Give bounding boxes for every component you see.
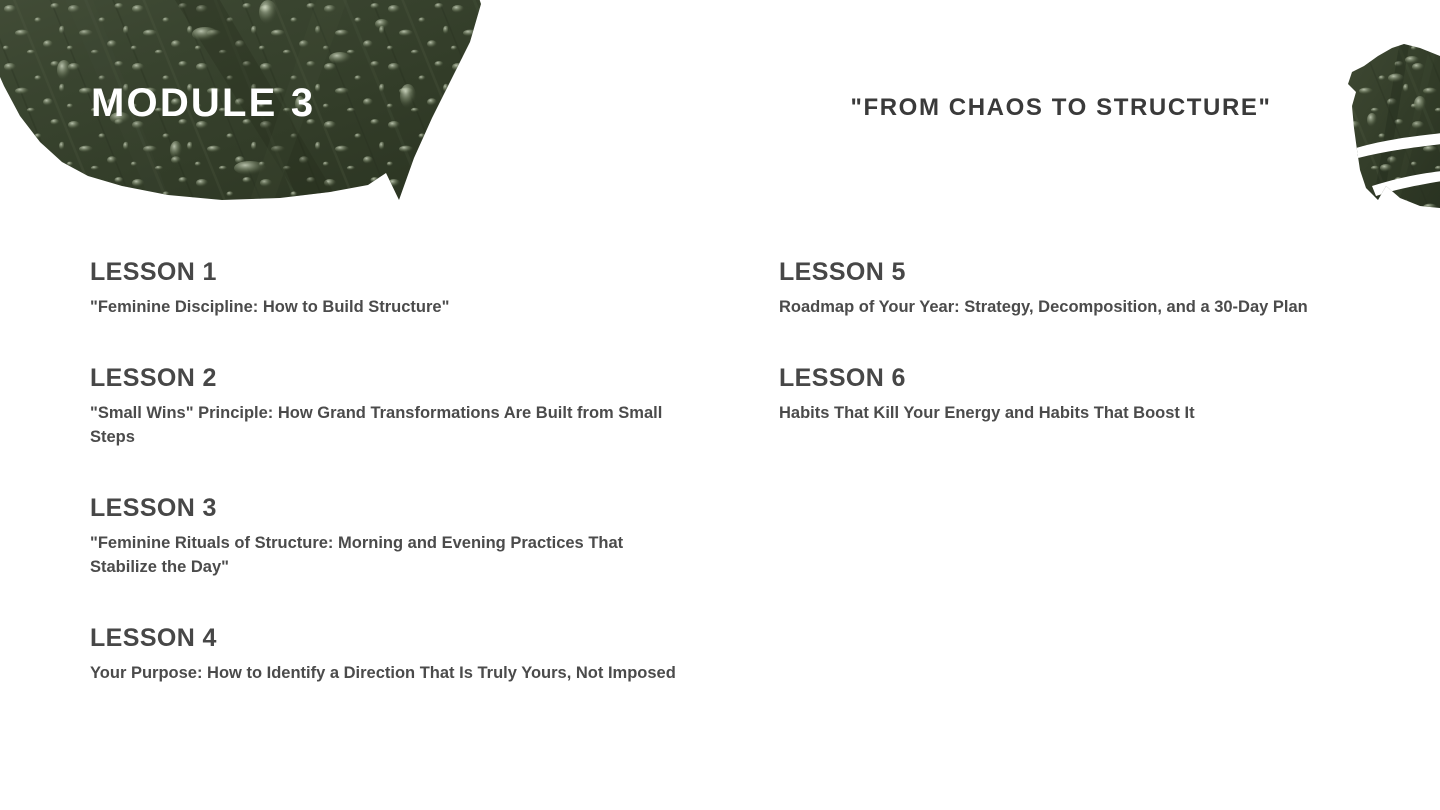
lesson-label: LESSON 3	[90, 494, 690, 522]
lesson-item[interactable]: LESSON 3 "Feminine Rituals of Structure:…	[90, 494, 690, 579]
slide-heading-text: "FROM CHAOS TO STRUCTURE"	[806, 92, 1316, 124]
lesson-description: Your Purpose: How to Identify a Directio…	[90, 661, 685, 685]
lesson-label: LESSON 4	[90, 624, 690, 652]
lesson-description: "Feminine Rituals of Structure: Morning …	[90, 531, 685, 579]
lesson-label: LESSON 6	[779, 364, 1379, 392]
module-badge: MODULE 3	[91, 79, 511, 131]
lesson-columns: LESSON 1 "Feminine Discipline: How to Bu…	[0, 258, 1440, 685]
lesson-label: LESSON 2	[90, 364, 690, 392]
slide-canvas: MODULE 3 "FROM CHAOS TO STRUCTURE" LESSO…	[0, 0, 1440, 810]
module-title: MODULE 3	[91, 79, 511, 127]
lesson-column-right: LESSON 5 Roadmap of Your Year: Strategy,…	[779, 258, 1379, 685]
lesson-item[interactable]: LESSON 2 "Small Wins" Principle: How Gra…	[90, 364, 690, 449]
lesson-description: Roadmap of Your Year: Strategy, Decompos…	[779, 295, 1364, 319]
monstera-leaf-image	[1340, 36, 1440, 216]
lesson-item[interactable]: LESSON 6 Habits That Kill Your Energy an…	[779, 364, 1379, 425]
lesson-description: "Feminine Discipline: How to Build Struc…	[90, 295, 685, 319]
lesson-description: Habits That Kill Your Energy and Habits …	[779, 401, 1364, 425]
lesson-label: LESSON 1	[90, 258, 690, 286]
slide-heading: "FROM CHAOS TO STRUCTURE"	[806, 92, 1316, 124]
lesson-item[interactable]: LESSON 1 "Feminine Discipline: How to Bu…	[90, 258, 690, 319]
lesson-label: LESSON 5	[779, 258, 1379, 286]
lesson-description: "Small Wins" Principle: How Grand Transf…	[90, 401, 685, 449]
lesson-item[interactable]: LESSON 5 Roadmap of Your Year: Strategy,…	[779, 258, 1379, 319]
lesson-column-left: LESSON 1 "Feminine Discipline: How to Bu…	[90, 258, 690, 685]
lesson-item[interactable]: LESSON 4 Your Purpose: How to Identify a…	[90, 624, 690, 685]
